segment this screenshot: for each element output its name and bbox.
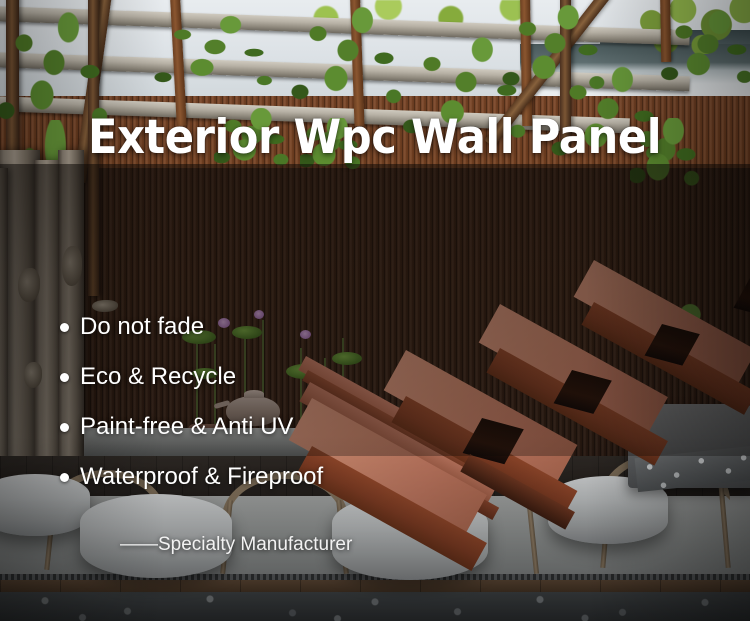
- list-item: Waterproof & Fireproof: [60, 452, 323, 502]
- feature-list: Do not fade Eco & Recycle Paint-free & A…: [60, 302, 323, 502]
- list-item: Paint-free & Anti UV: [60, 402, 323, 452]
- feature-label: Paint-free & Anti UV: [80, 413, 293, 441]
- trunk-knot: [62, 246, 82, 286]
- bullet-dot-icon: [60, 373, 69, 382]
- bullet-dot-icon: [60, 323, 69, 332]
- product-banner: Exterior Wpc Wall Panel Do not fade Eco …: [0, 0, 750, 621]
- feature-label: Do not fade: [80, 313, 204, 341]
- pergola-structure: [0, 0, 750, 120]
- bullet-dot-icon: [60, 423, 69, 432]
- wpc-wall-panel-product: [320, 258, 750, 508]
- vine-cluster-icon: [660, 8, 750, 88]
- trunk-knot: [24, 362, 42, 388]
- list-item: Eco & Recycle: [60, 352, 323, 402]
- vine-cluster-icon: [150, 10, 280, 92]
- bullet-dot-icon: [60, 473, 69, 482]
- feature-label: Waterproof & Fireproof: [80, 463, 323, 491]
- tree-trunk: [0, 168, 8, 468]
- trunk-knot: [18, 268, 40, 302]
- vine-cluster-icon: [288, 0, 408, 112]
- slat-hollow-cavity: [734, 278, 750, 317]
- manufacturer-signature: ——Specialty Manufacturer: [120, 534, 352, 556]
- gravel-border: [0, 592, 750, 621]
- page-title: Exterior Wpc Wall Panel: [88, 112, 661, 164]
- list-item: Do not fade: [60, 302, 323, 352]
- feature-label: Eco & Recycle: [80, 363, 236, 391]
- wpc-slat-hollow: [734, 278, 750, 317]
